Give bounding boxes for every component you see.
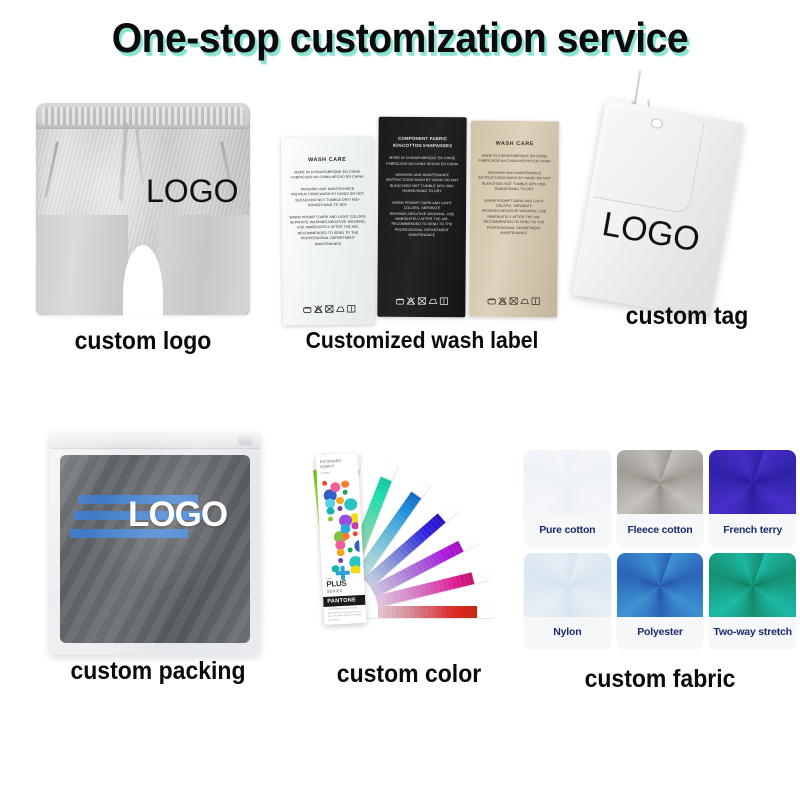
fabric-card: Pure cotton	[524, 450, 611, 546]
confetti-dot	[341, 480, 349, 488]
product-cell-custom-fabric: Pure cotton Fleece cotton French terry N…	[524, 450, 796, 670]
fabric-grid: Pure cotton Fleece cotton French terry N…	[524, 450, 796, 648]
hang-tag-fold	[593, 106, 705, 214]
page-title-text: One-stop customization service	[112, 14, 688, 62]
shorts-leg-left	[36, 215, 128, 315]
confetti-dot	[344, 498, 357, 511]
hang-tag-card: LOGO	[572, 99, 744, 318]
fabric-label: Two-way stretch	[709, 617, 796, 649]
fabric-swatch-nylon	[524, 553, 611, 617]
confetti-dot	[353, 531, 358, 536]
no-bleach-triangle-icon	[406, 297, 415, 305]
wash-label-black-origin: MADE IN CHINA/FABRIQUE EN CHINE FABRICAD…	[386, 156, 459, 167]
fabric-card: Nylon	[524, 553, 611, 649]
confetti-dot	[337, 549, 345, 557]
caption-customized-wash-label: Customized wash label	[288, 327, 557, 354]
promo-page: One-stop customization service LOGO cust…	[0, 0, 800, 800]
confetti-dot	[354, 539, 361, 552]
packed-garment	[60, 455, 250, 643]
shorts-image: LOGO	[18, 95, 268, 320]
fabric-card: Two-way stretch	[709, 553, 796, 649]
wash-label-tan-origin: MADE IN CHINA/FABRIQUE EN CHINE FABRICAD…	[478, 154, 551, 166]
wash-label-tan-instructions: WASHING AND MAINTENANCE INSTRUCTIONS:WAS…	[478, 170, 552, 192]
wash-label-white: WASH CARE MADE IN CHINA/FABRIQUE EN CHIN…	[281, 137, 375, 326]
dry-clean-box-icon	[346, 305, 355, 313]
iron-icon	[428, 297, 437, 305]
caption-custom-packing: custom packing	[38, 657, 277, 686]
iron-icon	[520, 297, 529, 305]
fabric-swatch-two-way-stretch	[709, 553, 796, 617]
product-cell-custom-color: EXTENDED GAMUT Coated THE PLUS SERIES PA…	[296, 428, 522, 668]
wash-tub-icon	[487, 297, 496, 305]
confetti-dot	[328, 516, 333, 521]
bag-zipper	[50, 433, 260, 449]
packing-logo-text: LOGO	[128, 495, 227, 535]
wash-label-tan-heading: WASH CARE	[496, 141, 534, 147]
wash-label-tan: WASH CARE MADE IN CHINA/FABRIQUE EN CHIN…	[469, 121, 559, 318]
no-bleach-triangle-icon	[313, 305, 322, 313]
pantone-fine-print: 1,729 extended gamut colors packaged in …	[324, 605, 367, 625]
confetti-dot	[342, 532, 350, 540]
fabric-label: Fleece cotton	[617, 514, 704, 546]
wash-label-white-heading: WASH CARE	[308, 157, 346, 163]
hang-tag-logo-text: LOGO	[599, 205, 703, 260]
page-title: One-stop customization service	[0, 8, 800, 68]
product-cell-wash-label: WASH CARE MADE IN CHINA/FABRIQUE EN CHIN…	[276, 95, 568, 330]
fabric-swatch-pure-cotton	[524, 450, 611, 514]
product-cell-custom-packing: LOGO custom packing	[28, 425, 288, 665]
confetti-dot	[351, 522, 359, 530]
confetti-dot	[322, 480, 327, 485]
no-bleach-triangle-icon	[498, 297, 507, 305]
confetti-dot	[326, 507, 334, 515]
care-symbol-row	[302, 305, 355, 314]
product-cell-custom-logo: LOGO custom logo	[18, 95, 268, 330]
pantone-cover-artwork	[320, 478, 361, 575]
wash-label-black-prompt: WARM PROMPT DARK AND LIGHT COLORS, SEPAR…	[385, 200, 459, 238]
pantone-plus-icon	[335, 566, 350, 581]
pantone-top-line-3: Coated	[316, 469, 358, 478]
dry-clean-box-icon	[531, 297, 540, 305]
shorts-logo-text: LOGO	[146, 173, 238, 210]
fabric-label: Polyester	[617, 617, 704, 649]
caption-custom-fabric: custom fabric	[535, 665, 785, 694]
fabric-swatch-french-terry	[709, 450, 796, 514]
wash-label-black-instructions: WASHING AND MAINTENANCE INSTRUCTIONS:WAS…	[385, 173, 458, 195]
shorts-waistband	[36, 103, 250, 129]
fabric-card: Polyester	[617, 553, 704, 649]
iron-icon	[335, 305, 344, 313]
confetti-dot	[342, 489, 347, 494]
caption-custom-tag: custom tag	[583, 302, 791, 331]
wash-label-tan-prompt: WARM PROMPT DARK AND LIGHT COLORS, SEPAR…	[477, 198, 551, 237]
dry-clean-box-icon	[439, 297, 448, 305]
confetti-dot	[337, 506, 342, 511]
fabric-card: Fleece cotton	[617, 450, 704, 546]
no-tumble-dry-icon	[324, 305, 333, 313]
confetti-dot	[338, 558, 343, 563]
packing-bag: LOGO	[50, 433, 260, 655]
care-symbol-row	[487, 297, 540, 306]
fabric-swatch-fleece-cotton	[617, 450, 704, 514]
care-symbol-row	[395, 297, 448, 305]
fabric-swatch-polyester	[617, 553, 704, 617]
wash-label-black: COMPONENT FABRIC 95%COTTON 5%SPANDEX MAD…	[377, 117, 466, 318]
wash-label-black-heading: COMPONENT FABRIC 95%COTTON 5%SPANDEX	[383, 136, 461, 150]
no-tumble-dry-icon	[509, 297, 518, 305]
fabric-label: French terry	[709, 514, 796, 546]
fabric-label: Nylon	[524, 617, 611, 649]
wash-label-white-instructions: WASHING AND MAINTENANCE INSTRUCTIONS:WAS…	[289, 186, 366, 208]
wash-tub-icon	[395, 297, 404, 305]
wash-label-white-prompt: WARM PROMPT DARK AND LIGHT COLORS, SEPAR…	[289, 214, 366, 247]
confetti-dot	[350, 565, 360, 575]
no-tumble-dry-icon	[417, 297, 426, 305]
shorts-leg-right	[158, 215, 250, 315]
confetti-dot	[336, 497, 344, 505]
pantone-cover: EXTENDED GAMUT Coated THE PLUS SERIES PA…	[316, 453, 367, 625]
wash-tub-icon	[302, 305, 311, 313]
product-cell-custom-tag: LOGO custom tag	[574, 70, 800, 330]
caption-custom-logo: custom logo	[28, 327, 258, 356]
fabric-label: Pure cotton	[524, 514, 611, 546]
caption-custom-color: custom color	[305, 660, 513, 689]
wash-label-white-origin: MADE IN CHINA/FABRIQUE EN CHINE FABRICAD…	[289, 170, 366, 182]
confetti-dot	[347, 547, 352, 552]
fabric-card: French terry	[709, 450, 796, 546]
confetti-dot	[330, 482, 341, 493]
